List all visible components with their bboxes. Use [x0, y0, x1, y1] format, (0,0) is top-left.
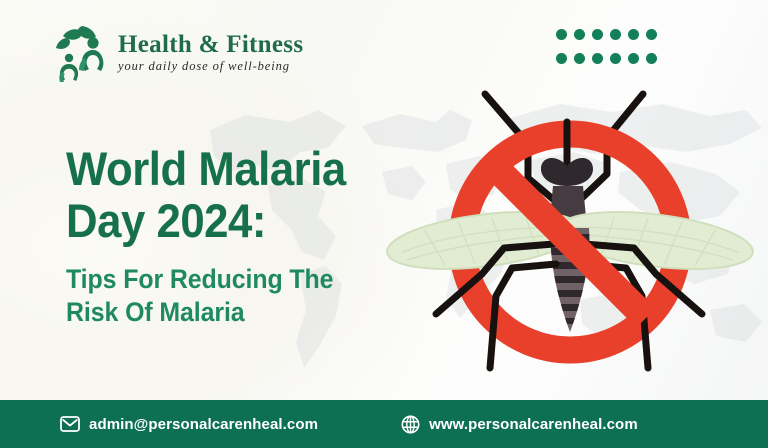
- grid-dot: [556, 53, 567, 64]
- subheadline-block: Tips For Reducing The Risk Of Malaria: [66, 263, 367, 329]
- headline-line-1: World Malaria: [66, 143, 346, 195]
- footer-website-text: www.personalcarenheal.com: [429, 416, 638, 433]
- brand-tagline: your daily dose of well-being: [118, 60, 303, 73]
- footer-email[interactable]: admin@personalcarenheal.com: [60, 416, 318, 433]
- grid-dot: [556, 29, 567, 40]
- grid-dot: [592, 53, 603, 64]
- leaf-people-logo-icon: [52, 22, 110, 82]
- envelope-icon: [60, 416, 80, 432]
- grid-dot: [610, 53, 621, 64]
- malaria-day-banner: Health & Fitness your daily dose of well…: [0, 0, 768, 448]
- brand-name: Health & Fitness: [118, 32, 303, 57]
- dot-grid-decoration: [556, 29, 664, 71]
- grid-dot: [610, 29, 621, 40]
- subheadline-line-2: Risk Of Malaria: [66, 296, 349, 329]
- footer-website[interactable]: www.personalcarenheal.com: [401, 415, 638, 434]
- subheadline-line-1: Tips For Reducing The: [66, 263, 349, 296]
- brand-logo[interactable]: Health & Fitness your daily dose of well…: [52, 22, 303, 82]
- grid-dot: [592, 29, 603, 40]
- footer-email-text: admin@personalcarenheal.com: [89, 416, 318, 433]
- no-mosquito-prohibition-illustration: [386, 82, 754, 400]
- footer-contact-bar: admin@personalcarenheal.com www.personal…: [0, 400, 768, 448]
- headline-line-2: Day 2024:: [66, 195, 346, 247]
- grid-dot: [646, 53, 657, 64]
- globe-icon: [401, 415, 420, 434]
- grid-dot: [646, 29, 657, 40]
- grid-dot: [628, 29, 639, 40]
- grid-dot: [574, 29, 585, 40]
- grid-dot: [574, 53, 585, 64]
- grid-dot: [628, 53, 639, 64]
- headline-block: World Malaria Day 2024: Tips For Reducin…: [66, 143, 367, 329]
